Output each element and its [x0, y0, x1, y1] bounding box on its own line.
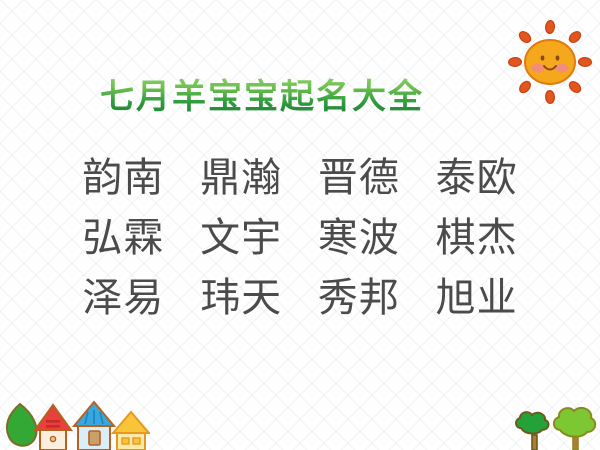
name-item: 弘霖 — [82, 208, 164, 268]
poster-canvas: 七月羊宝宝起名大全 韵南 鼎瀚 晋德 泰欧 弘霖 文宇 寒波 棋杰 泽易 玮天 … — [0, 0, 600, 450]
name-item: 棋杰 — [436, 208, 518, 268]
blue-house — [74, 402, 114, 450]
name-item: 鼎瀚 — [200, 148, 282, 208]
name-row: 韵南 鼎瀚 晋德 泰欧 — [0, 148, 600, 208]
name-item: 旭业 — [436, 268, 518, 328]
red-house — [35, 405, 71, 450]
name-item: 秀邦 — [318, 268, 400, 328]
page-title: 七月羊宝宝起名大全 — [100, 76, 424, 118]
name-row: 泽易 玮天 秀邦 旭业 — [0, 268, 600, 328]
leaf-shape — [7, 404, 37, 446]
name-row: 弘霖 文宇 寒波 棋杰 — [0, 208, 600, 268]
smiling-sun-icon — [505, 18, 595, 106]
village-houses-icon — [0, 398, 150, 450]
name-item: 韵南 — [82, 148, 164, 208]
name-item: 泽易 — [82, 268, 164, 328]
yellow-house — [113, 412, 149, 450]
light-tree — [554, 408, 595, 450]
name-item: 玮天 — [200, 268, 282, 328]
dark-tree — [516, 412, 549, 450]
name-item: 泰欧 — [436, 148, 518, 208]
name-item: 寒波 — [318, 208, 400, 268]
name-item: 晋德 — [318, 148, 400, 208]
trees-icon — [505, 402, 600, 450]
name-item: 文宇 — [200, 208, 282, 268]
name-list: 韵南 鼎瀚 晋德 泰欧 弘霖 文宇 寒波 棋杰 泽易 玮天 秀邦 旭业 — [0, 148, 600, 328]
